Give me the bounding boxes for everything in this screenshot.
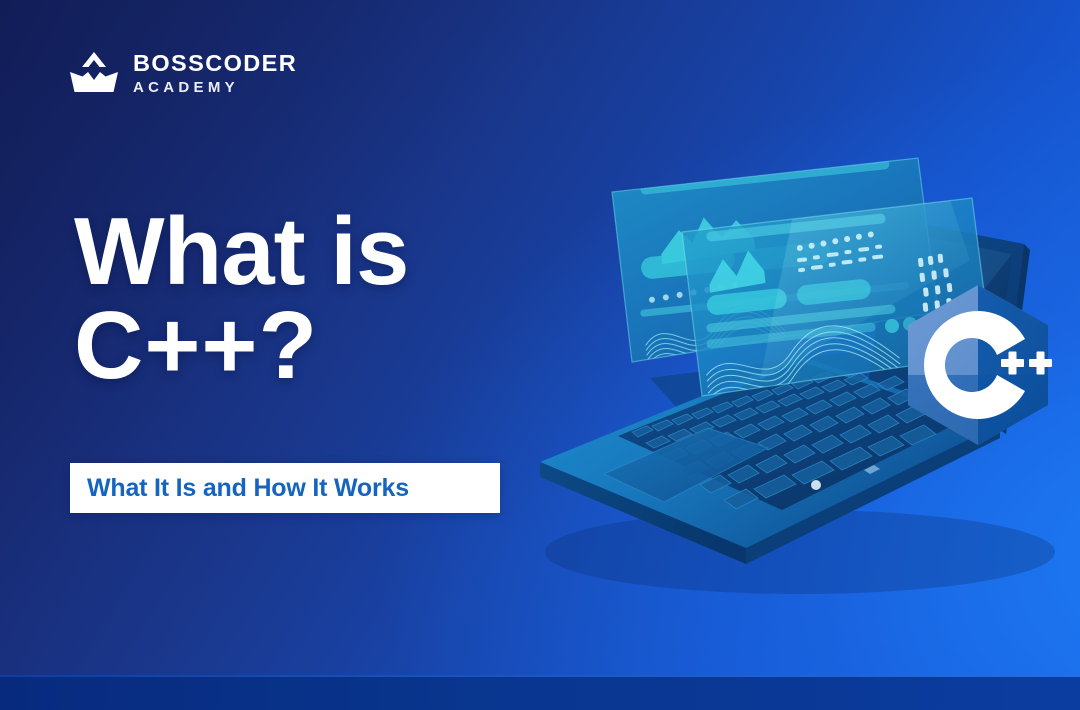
brand-wordmark: BOSSCODER ACADEMY bbox=[133, 52, 297, 99]
bosscoder-crown-icon bbox=[68, 50, 120, 100]
laptop-illustration bbox=[500, 140, 1080, 610]
hero-banner: BOSSCODER ACADEMY What is C++? What It I… bbox=[0, 0, 1080, 710]
bottom-accent-bar bbox=[0, 675, 1080, 710]
title-line-2: C++? bbox=[74, 299, 408, 393]
title-line-1: What is bbox=[74, 198, 408, 305]
subtitle-banner: What It Is and How It Works bbox=[70, 463, 500, 513]
page-title: What is C++? bbox=[74, 205, 408, 393]
brand-logo[interactable]: BOSSCODER ACADEMY bbox=[68, 50, 297, 100]
brand-name: BOSSCODER bbox=[133, 52, 297, 76]
brand-subname: ACADEMY bbox=[133, 77, 297, 99]
subtitle-text: What It Is and How It Works bbox=[87, 474, 409, 503]
